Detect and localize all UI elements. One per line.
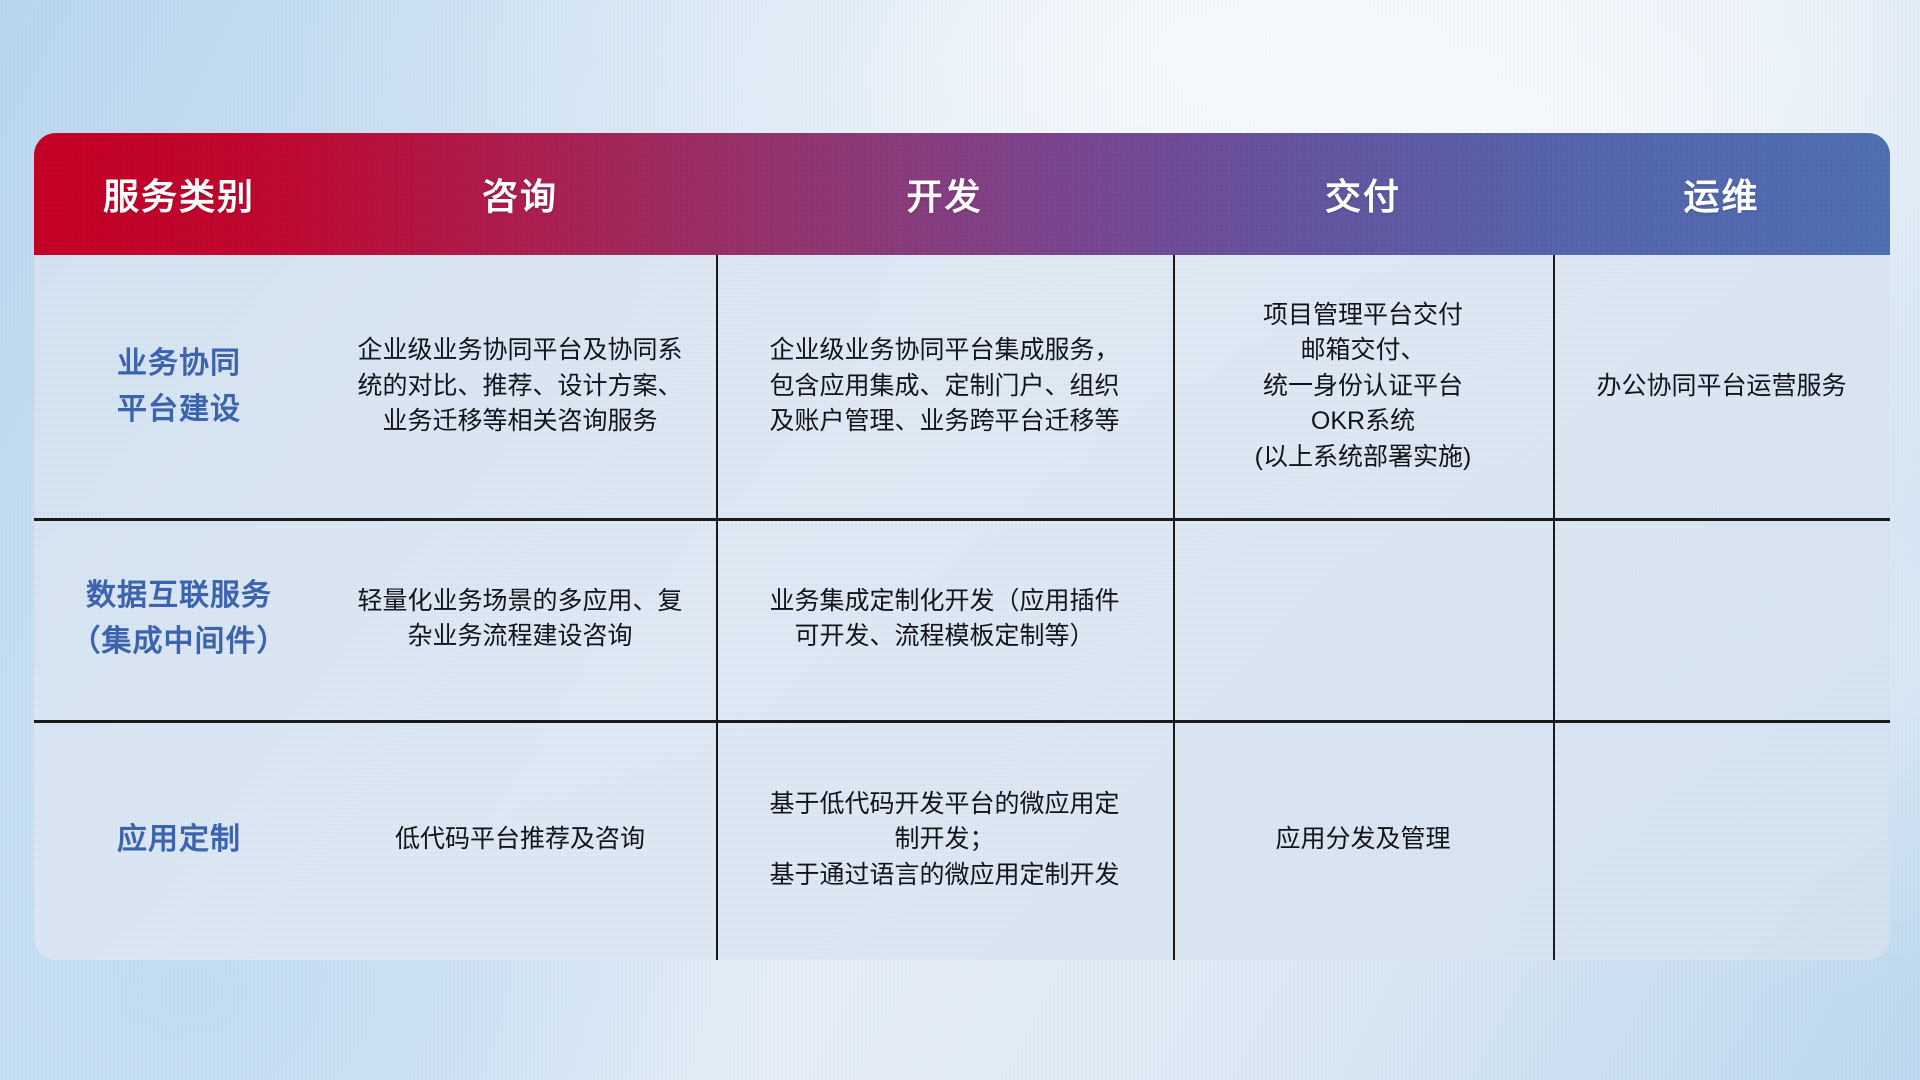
table-row[interactable]: 业务协同 平台建设 企业级业务协同平台及协同系 统的对比、推荐、设计方案、 业务… xyxy=(34,255,1890,518)
table-row[interactable]: 数据互联服务 （集成中间件） 轻量化业务场景的多应用、复 杂业务流程建设咨询 业… xyxy=(34,518,1890,720)
cell-consulting: 低代码平台推荐及咨询 xyxy=(324,720,716,960)
service-matrix-table: 服务类别 咨询 开发 交付 运维 业务协同 平台建设 企业级业务协同平台及协同系… xyxy=(34,133,1890,960)
cell-operations xyxy=(1553,720,1890,960)
table-body: 业务协同 平台建设 企业级业务协同平台及协同系 统的对比、推荐、设计方案、 业务… xyxy=(34,255,1890,960)
column-header-service-category[interactable]: 服务类别 xyxy=(34,168,324,220)
cell-development: 业务集成定制化开发（应用插件 可开发、流程模板定制等） xyxy=(716,518,1173,720)
cell-operations: 办公协同平台运营服务 xyxy=(1553,255,1890,518)
cell-development: 企业级业务协同平台集成服务， 包含应用集成、定制门户、组织 及账户管理、业务跨平… xyxy=(716,255,1173,518)
cell-delivery xyxy=(1173,518,1553,720)
column-header-operations[interactable]: 运维 xyxy=(1553,168,1890,220)
cell-delivery: 项目管理平台交付 邮箱交付、 统一身份认证平台 OKR系统 (以上系统部署实施) xyxy=(1173,255,1553,518)
cell-operations xyxy=(1553,518,1890,720)
cell-consulting: 企业级业务协同平台及协同系 统的对比、推荐、设计方案、 业务迁移等相关咨询服务 xyxy=(324,255,716,518)
cell-category: 应用定制 xyxy=(34,720,324,960)
cell-category: 业务协同 平台建设 xyxy=(34,255,324,518)
cell-consulting: 轻量化业务场景的多应用、复 杂业务流程建设咨询 xyxy=(324,518,716,720)
cell-category: 数据互联服务 （集成中间件） xyxy=(34,518,324,720)
cell-delivery: 应用分发及管理 xyxy=(1173,720,1553,960)
cell-development: 基于低代码开发平台的微应用定 制开发； 基于通过语言的微应用定制开发 xyxy=(716,720,1173,960)
column-header-development[interactable]: 开发 xyxy=(716,168,1173,220)
column-header-delivery[interactable]: 交付 xyxy=(1173,168,1553,220)
table-header-row: 服务类别 咨询 开发 交付 运维 xyxy=(34,133,1890,255)
column-header-consulting[interactable]: 咨询 xyxy=(324,168,716,220)
table-row[interactable]: 应用定制 低代码平台推荐及咨询 基于低代码开发平台的微应用定 制开发； 基于通过… xyxy=(34,720,1890,960)
